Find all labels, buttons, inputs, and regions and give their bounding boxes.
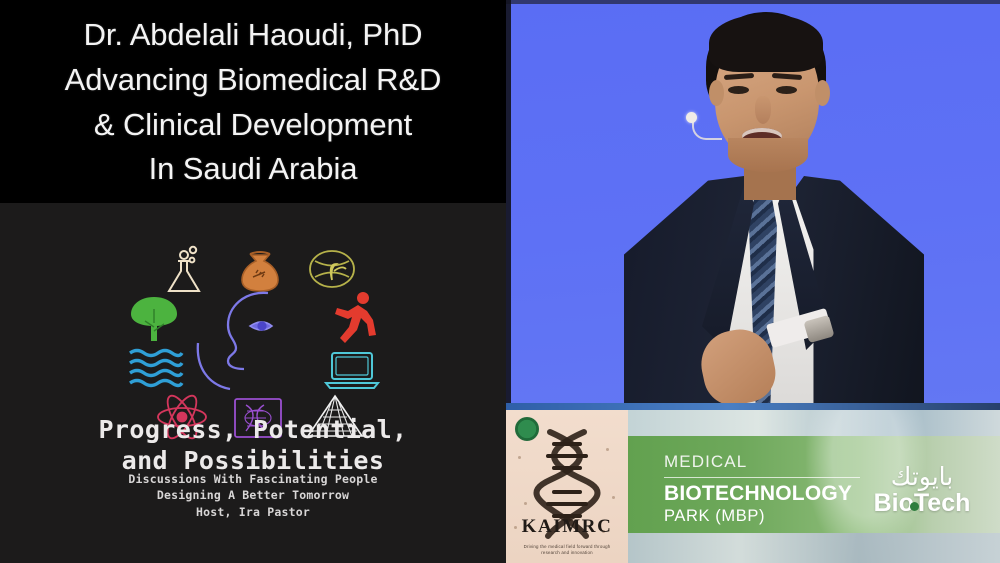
speaker-ear-left [709,80,724,106]
speaker-eye-left [728,86,749,94]
mbp-line-2: BIOTECHNOLOGY [664,482,874,506]
podcast-cover-art: Progress, Potential, and Possibilities D… [0,203,506,563]
title-line-3: & Clinical Development [94,103,412,148]
biotech-arabic-wordmark: بايوتك [856,464,988,489]
lab-photo-bottom [628,533,1000,563]
mbp-green-panel: MEDICAL BIOTECHNOLOGY PARK (MBP) بايوتك … [628,410,1000,563]
lapel-mic-icon [686,112,697,123]
title-line-1: Dr. Abdelali Haoudi, PhD [84,13,423,58]
running-person-icon [330,291,378,343]
kaimrc-poster: KAIMRC Driving the medical field forward… [506,410,628,563]
mbp-wordmark: MEDICAL BIOTECHNOLOGY PARK (MBP) [664,452,874,526]
kaimrc-tagline: Driving the medical field forward throug… [514,544,620,557]
podcast-title: Progress, Potential, and Possibilities [0,415,506,476]
lapel-mic-boom [692,120,722,140]
speaker-hairline [709,14,823,72]
brand-strip: KAIMRC Driving the medical field forward… [506,403,1000,563]
strip-top-bar [506,403,1000,410]
episode-frame: Dr. Abdelali Haoudi, PhD Advancing Biome… [0,0,1000,563]
title-line-2: Advancing Biomedical R&D [65,58,442,103]
speaker-chin [728,138,808,172]
mbp-line-3: PARK (MBP) [664,507,874,526]
speaker-ear-right [815,80,830,106]
speaker-nose [755,96,771,124]
biotech-dot-accent [910,502,919,511]
podcast-subtitle: Discussions With Fascinating People Desi… [0,471,506,520]
kaimrc-wordmark: KAIMRC [506,516,628,538]
mbp-divider [664,477,860,478]
biotech-latin-text: BioTech [874,489,971,517]
podcast-subtitle-line-1: Discussions With Fascinating People [0,471,506,487]
video-left-edge [506,0,511,403]
speaker-video-panel [506,0,1000,403]
title-card: Dr. Abdelali Haoudi, PhD Advancing Biome… [0,0,506,203]
tree-icon [128,293,180,343]
podcast-subtitle-line-3: Host, Ira Pastor [0,504,506,520]
podcast-title-line-1: Progress, Potential, [0,415,506,446]
video-top-edge [506,0,1000,4]
left-panel: Dr. Abdelali Haoudi, PhD Advancing Biome… [0,0,506,563]
biotech-latin-wordmark: BioTech [874,490,971,516]
podcast-subtitle-line-2: Designing A Better Tomorrow [0,487,506,503]
mbp-line-1: MEDICAL [664,452,874,472]
biotech-logo: بايوتك BioTech [856,464,988,516]
icon-cluster [128,243,384,413]
laptop-icon [324,349,380,391]
face-profile-icon [194,285,314,405]
title-line-4: In Saudi Arabia [149,147,358,192]
speaker-eye-right [776,86,797,94]
water-waves-icon [128,347,184,391]
globe-seed-icon [308,247,356,291]
